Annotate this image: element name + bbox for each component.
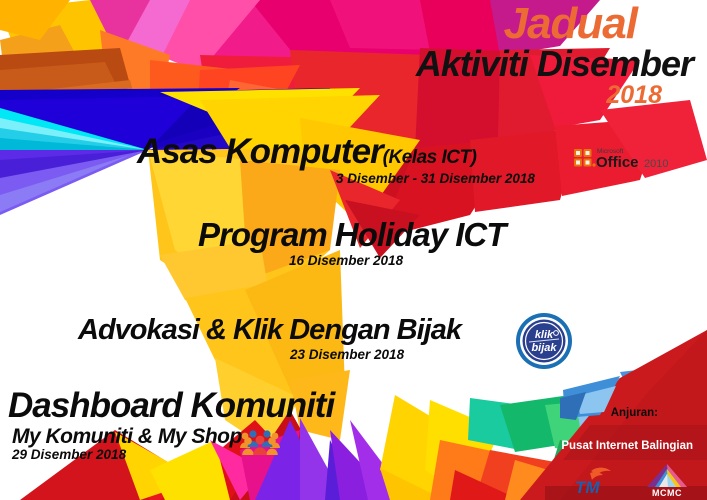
microsoft-office-2010-logo: Microsoft Office 2010 xyxy=(573,142,671,172)
program-name: Advokasi & Klik Dengan Bijak xyxy=(78,316,461,345)
program-subtitle: (Kelas ICT) xyxy=(383,147,477,168)
mcmc-logo-text: MCMC xyxy=(652,488,682,498)
tm-logo-text: TM xyxy=(575,478,600,496)
my-komuniti-people-icon xyxy=(239,428,281,456)
anjuran-label: Anjuran: xyxy=(611,408,658,420)
poster-content: Jadual Aktiviti Disember 2018 Asas Kompu… xyxy=(0,0,707,500)
program-date: 23 Disember 2018 xyxy=(290,348,404,362)
program-entry-dashboard-komuniti: Dashboard Komuniti My Komuniti & My Shop… xyxy=(8,388,334,423)
program-entry-holiday-ict: Program Holiday ICT 16 Disember 2018 xyxy=(198,218,505,251)
klik-logo-line1: klik xyxy=(535,329,554,341)
program-date: 29 Disember 2018 xyxy=(12,448,126,462)
program-entry-advokasi-klik-bijak: Advokasi & Klik Dengan Bijak 23 Disember… xyxy=(78,316,461,345)
program-name: Asas Komputer xyxy=(137,134,383,169)
klik-logo-line2: bijak xyxy=(531,342,557,354)
program-name: Dashboard Komuniti xyxy=(8,388,334,423)
svg-text:2010: 2010 xyxy=(644,158,668,170)
svg-text:Office: Office xyxy=(596,154,639,171)
klik-dengan-bijak-logo: klik bijak xyxy=(515,312,573,370)
poster-canvas: Jadual Aktiviti Disember 2018 Asas Kompu… xyxy=(0,0,707,500)
program-name: Program Holiday ICT xyxy=(198,218,505,251)
mcmc-logo: MCMC xyxy=(645,462,689,498)
page-title-line1: Jadual xyxy=(504,2,637,46)
program-date: 3 Disember - 31 Disember 2018 xyxy=(336,172,535,186)
page-title-line2: Aktiviti Disember xyxy=(416,46,693,82)
program-entry-asas-komputer: Asas Komputer(Kelas ICT) 3 Disember - 31… xyxy=(137,134,476,169)
page-title-year: 2018 xyxy=(606,83,662,108)
organizer-name: Pusat Internet Balingian xyxy=(561,441,693,453)
tm-logo: TM xyxy=(573,466,617,496)
program-subtitle: My Komuniti & My Shop xyxy=(12,426,242,447)
program-date: 16 Disember 2018 xyxy=(289,254,403,268)
